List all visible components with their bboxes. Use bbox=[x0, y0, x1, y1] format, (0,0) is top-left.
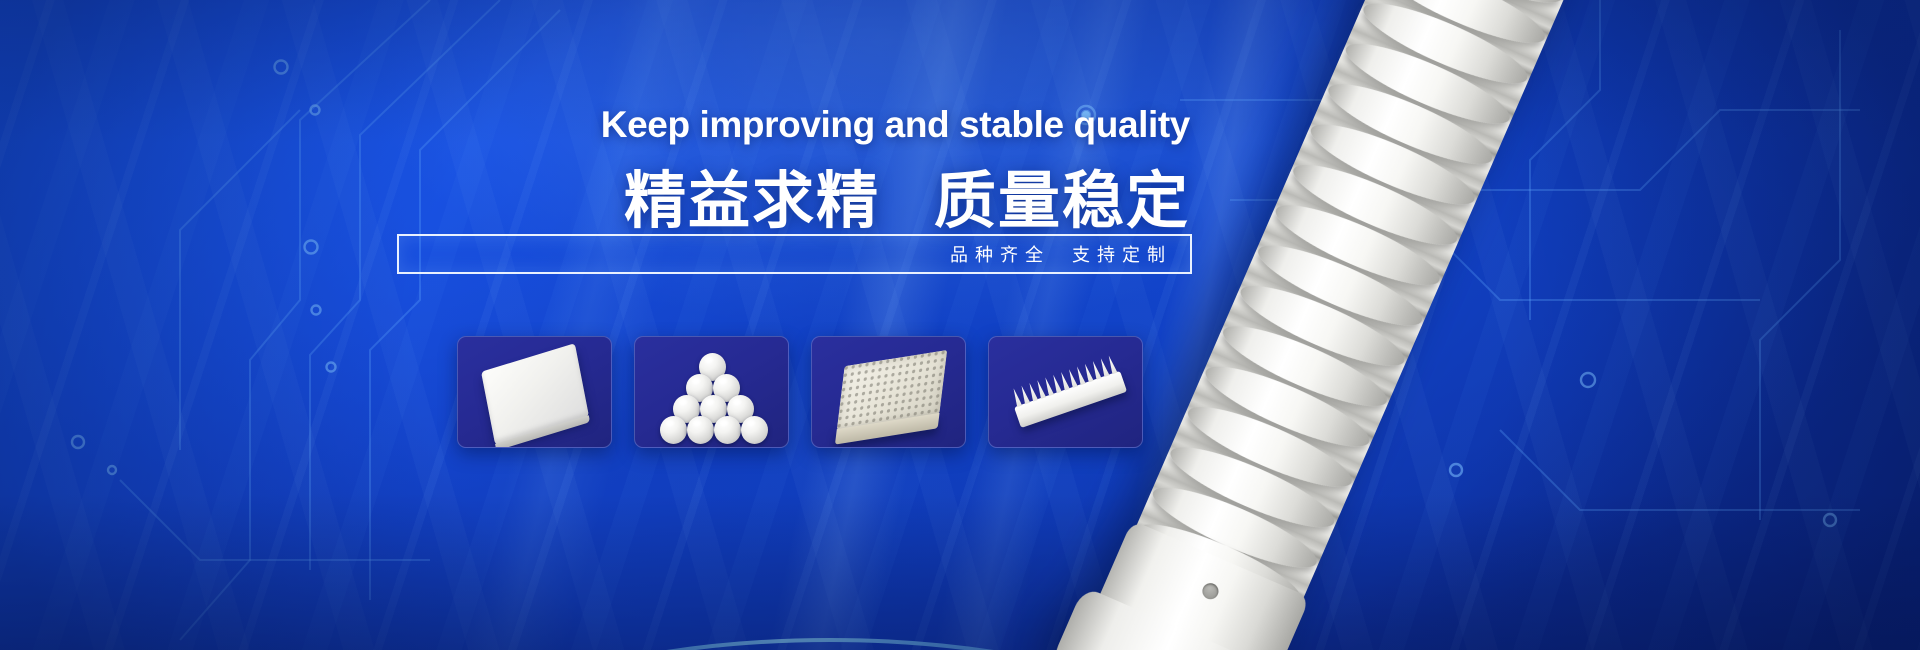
banner-headline-chinese: 精益求精质量稳定 bbox=[0, 150, 1190, 240]
background-diagonal-bands bbox=[0, 0, 1920, 650]
banner-subtitle-box: 品种齐全支持定制 bbox=[397, 234, 1192, 274]
product-card-honeycomb-ceramic[interactable] bbox=[811, 336, 966, 448]
background-vignette bbox=[0, 0, 1920, 650]
honeycomb-ceramic-icon bbox=[837, 350, 948, 430]
product-card-ceramic-comb[interactable] bbox=[988, 336, 1143, 448]
background-light-streaks bbox=[0, 0, 1920, 650]
headline-phrase-left: 精益求精 bbox=[624, 167, 880, 236]
subtitle-phrase-right: 支持定制 bbox=[1072, 245, 1172, 265]
subtitle-phrase-left: 品种齐全 bbox=[950, 245, 1050, 265]
corrugated-ceramic-rod-image bbox=[1040, 0, 1607, 650]
ceramic-plate-icon bbox=[481, 343, 589, 445]
product-thumbnail-row bbox=[457, 336, 1143, 448]
product-card-ceramic-plate[interactable] bbox=[457, 336, 612, 448]
ceramic-balls-icon bbox=[635, 337, 789, 448]
banner-subtitle-text: 品种齐全支持定制 bbox=[950, 241, 1172, 267]
ceramic-comb-icon bbox=[1007, 350, 1127, 428]
circuit-trace-decoration bbox=[0, 0, 1920, 650]
headline-phrase-right: 质量稳定 bbox=[934, 167, 1190, 236]
promo-banner: Keep improving and stable quality 精益求精质量… bbox=[0, 0, 1920, 650]
banner-eyebrow-english: Keep improving and stable quality bbox=[0, 104, 1190, 146]
product-card-ceramic-balls[interactable] bbox=[634, 336, 789, 448]
background-diagonal-bands-2 bbox=[0, 0, 1920, 650]
background-top-glow bbox=[0, 0, 1920, 650]
